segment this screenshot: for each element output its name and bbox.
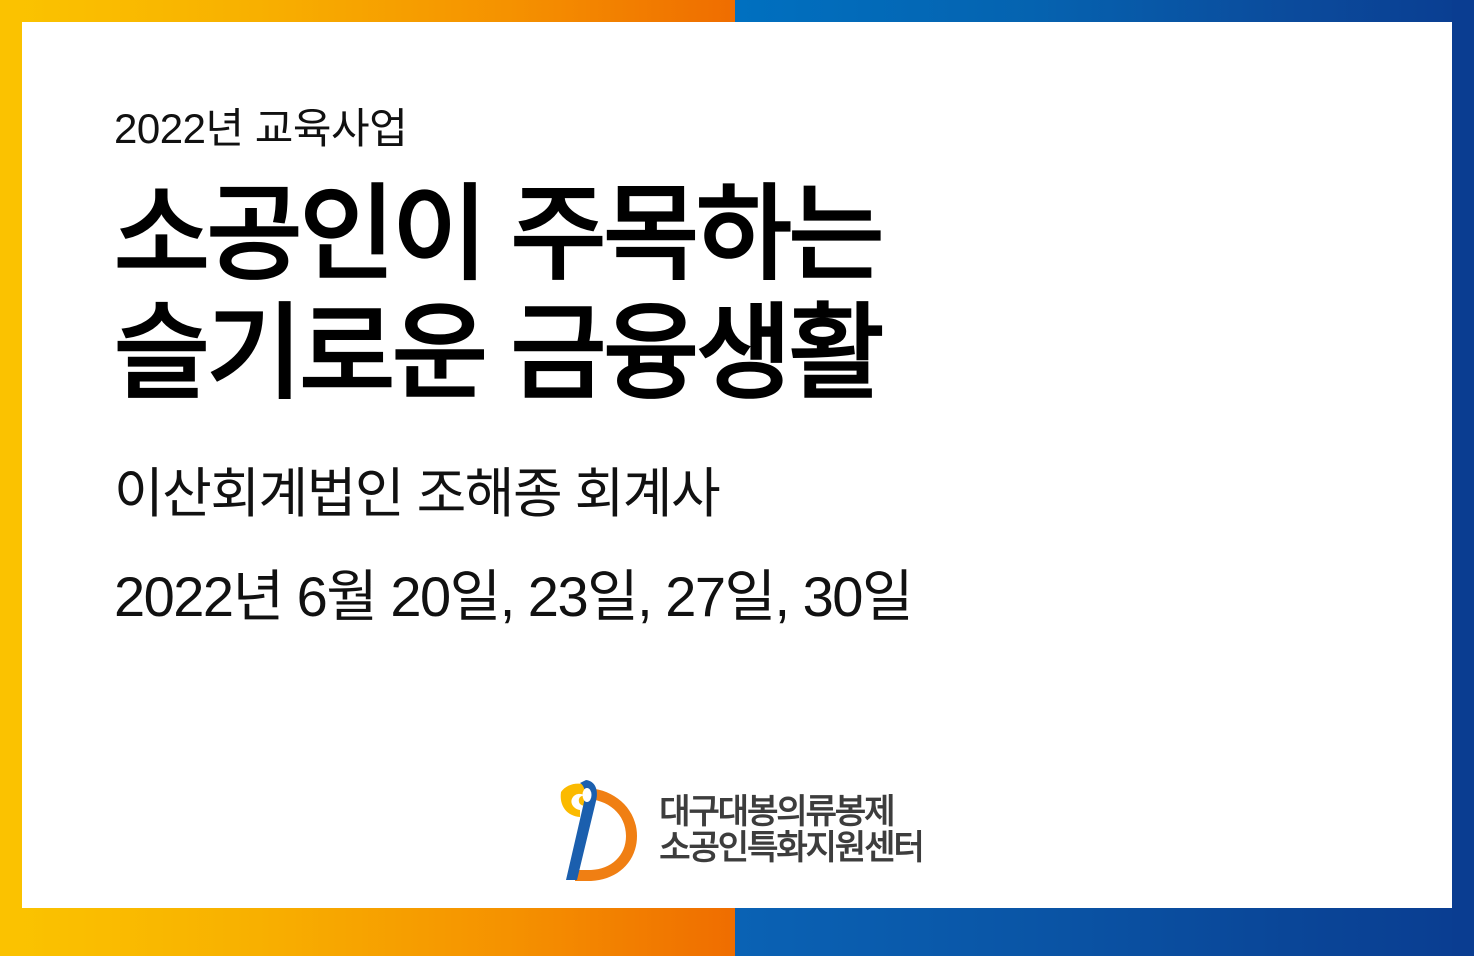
organization-logo-text: 대구대봉의류봉제 소공인특화지원센터 bbox=[659, 794, 923, 866]
organization-name-line-1: 대구대봉의류봉제 bbox=[659, 794, 923, 830]
frame-bar-left bbox=[0, 0, 22, 956]
needle-thread-d-logo-icon bbox=[551, 774, 643, 886]
poster-title: 소공인이 주목하는 슬기로운 금융생활 bbox=[114, 176, 1412, 413]
frame-bar-top-left bbox=[0, 0, 735, 22]
poster-text-block: 2022년 교육사업 소공인이 주목하는 슬기로운 금융생활 이산회계법인 조해… bbox=[114, 106, 1412, 630]
frame-bar-bottom-right bbox=[735, 908, 1474, 956]
poster-title-line-2: 슬기로운 금융생활 bbox=[114, 295, 1412, 414]
organization-name-line-2: 소공인특화지원센터 bbox=[659, 830, 923, 866]
poster-dates: 2022년 6월 20일, 23일, 27일, 30일 bbox=[114, 565, 1412, 629]
poster-title-line-1: 소공인이 주목하는 bbox=[114, 176, 1412, 295]
poster-canvas: 2022년 교육사업 소공인이 주목하는 슬기로운 금융생활 이산회계법인 조해… bbox=[22, 22, 1452, 908]
frame-bar-bottom-left bbox=[0, 908, 735, 956]
poster-speaker: 이산회계법인 조해종 회계사 bbox=[114, 463, 1412, 525]
poster-eyebrow: 2022년 교육사업 bbox=[114, 106, 1412, 152]
promo-poster: 2022년 교육사업 소공인이 주목하는 슬기로운 금융생활 이산회계법인 조해… bbox=[0, 0, 1474, 956]
frame-bar-right bbox=[1452, 0, 1474, 956]
frame-bar-top-right bbox=[735, 0, 1474, 22]
organization-logo: 대구대봉의류봉제 소공인특화지원센터 bbox=[22, 774, 1452, 886]
